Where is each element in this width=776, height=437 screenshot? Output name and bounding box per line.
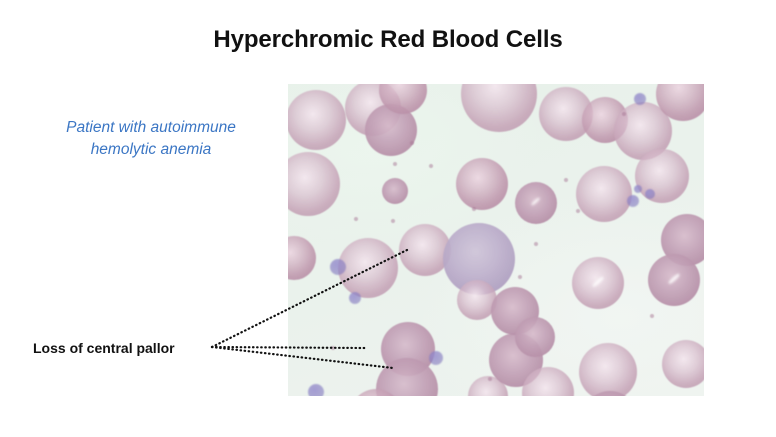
page-title: Hyperchromic Red Blood Cells xyxy=(0,26,776,54)
debris-speck xyxy=(564,178,568,182)
red-blood-cell xyxy=(648,254,700,306)
patient-caption-line-1: Patient with autoimmune xyxy=(36,117,266,139)
cell-highlight xyxy=(591,276,603,288)
platelet xyxy=(645,189,655,199)
red-blood-cell xyxy=(515,182,557,224)
red-blood-cell xyxy=(456,158,508,210)
blood-smear-image xyxy=(288,84,704,396)
annotation-loss-of-central-pallor: Loss of central pallor xyxy=(33,340,175,356)
debris-speck xyxy=(488,377,492,381)
platelet xyxy=(627,195,639,207)
cell-highlight xyxy=(667,273,679,285)
red-blood-cell xyxy=(515,317,555,357)
red-blood-cell xyxy=(635,149,689,203)
red-blood-cell xyxy=(288,90,346,150)
red-blood-cell xyxy=(662,340,704,388)
red-blood-cell xyxy=(576,166,632,222)
platelet xyxy=(308,384,324,396)
platelet xyxy=(330,259,346,275)
debris-speck xyxy=(410,141,414,145)
debris-speck xyxy=(472,207,476,211)
debris-speck xyxy=(391,219,395,223)
red-blood-cell xyxy=(338,238,398,298)
platelet xyxy=(349,292,361,304)
debris-speck xyxy=(650,314,654,318)
debris-speck xyxy=(622,112,626,116)
patient-caption: Patient with autoimmune hemolytic anemia xyxy=(36,117,266,162)
platelet xyxy=(429,351,443,365)
platelet xyxy=(634,93,646,105)
debris-speck xyxy=(518,275,522,279)
red-blood-cell xyxy=(382,178,408,204)
patient-caption-line-2: hemolytic anemia xyxy=(36,139,266,161)
debris-speck xyxy=(393,162,397,166)
debris-speck xyxy=(354,217,358,221)
debris-speck xyxy=(576,209,580,213)
debris-speck xyxy=(534,242,538,246)
red-blood-cell xyxy=(579,343,637,396)
red-blood-cell xyxy=(572,257,624,309)
cell-highlight xyxy=(531,197,541,206)
debris-speck xyxy=(429,164,433,168)
debris-speck xyxy=(331,346,335,350)
platelet xyxy=(634,185,642,193)
